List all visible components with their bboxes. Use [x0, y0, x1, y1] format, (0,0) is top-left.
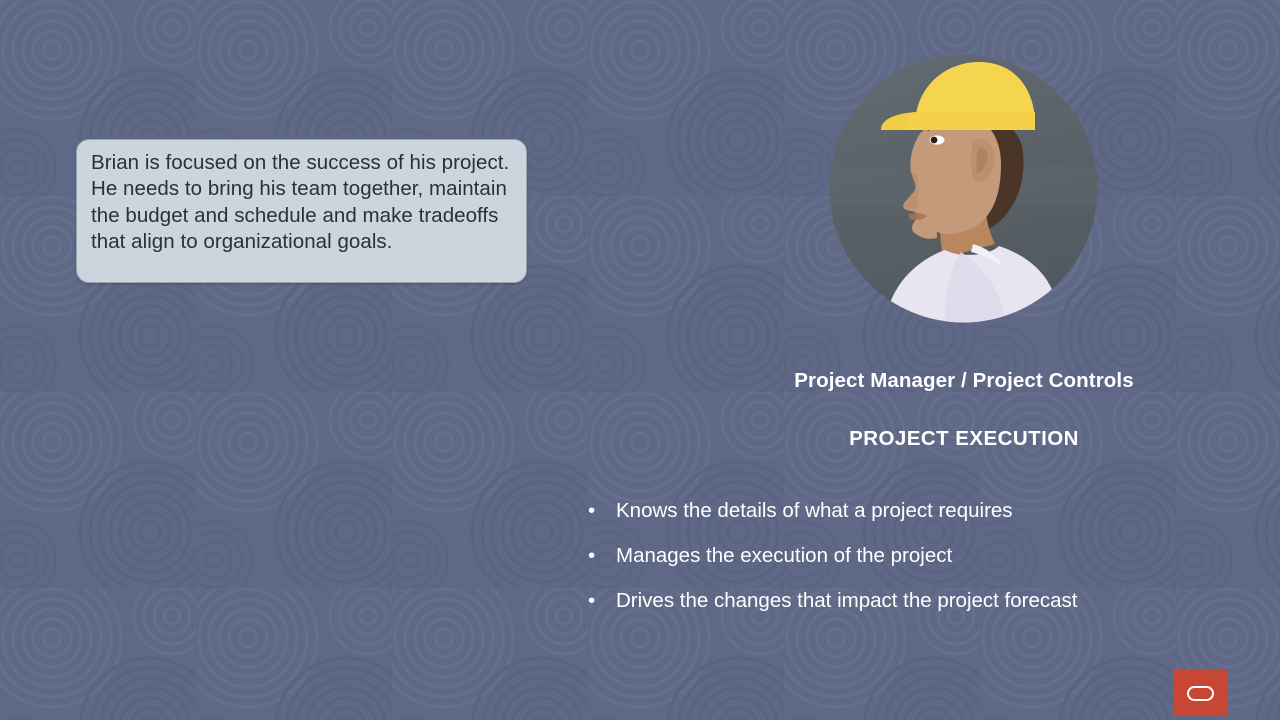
- role-focus-subtitle: PROJECT EXECUTION: [664, 427, 1264, 451]
- list-item: • Manages the execution of the project: [586, 543, 1226, 588]
- responsibility-list: • Knows the details of what a project re…: [586, 498, 1226, 633]
- list-item-label: Knows the details of what a project requ…: [616, 499, 1013, 522]
- role-title: Project Manager / Project Controls: [664, 369, 1264, 393]
- oracle-logo: [1173, 670, 1228, 716]
- bullet-marker-icon: •: [588, 588, 595, 614]
- list-item-label: Drives the changes that impact the proje…: [616, 589, 1077, 612]
- avatar: [823, 48, 1104, 329]
- oracle-o-icon: [1187, 686, 1214, 701]
- slide-canvas: Brian is focused on the success of his p…: [0, 0, 1280, 720]
- list-item-label: Manages the execution of the project: [616, 544, 952, 567]
- speech-bubble-text: Brian is focused on the success of his p…: [91, 150, 510, 256]
- list-item: • Drives the changes that impact the pro…: [586, 588, 1226, 633]
- bullet-marker-icon: •: [588, 498, 595, 524]
- pupil-shape: [931, 137, 938, 144]
- speech-bubble: Brian is focused on the success of his p…: [76, 139, 527, 283]
- list-item: • Knows the details of what a project re…: [586, 498, 1226, 543]
- bullet-marker-icon: •: [588, 543, 595, 569]
